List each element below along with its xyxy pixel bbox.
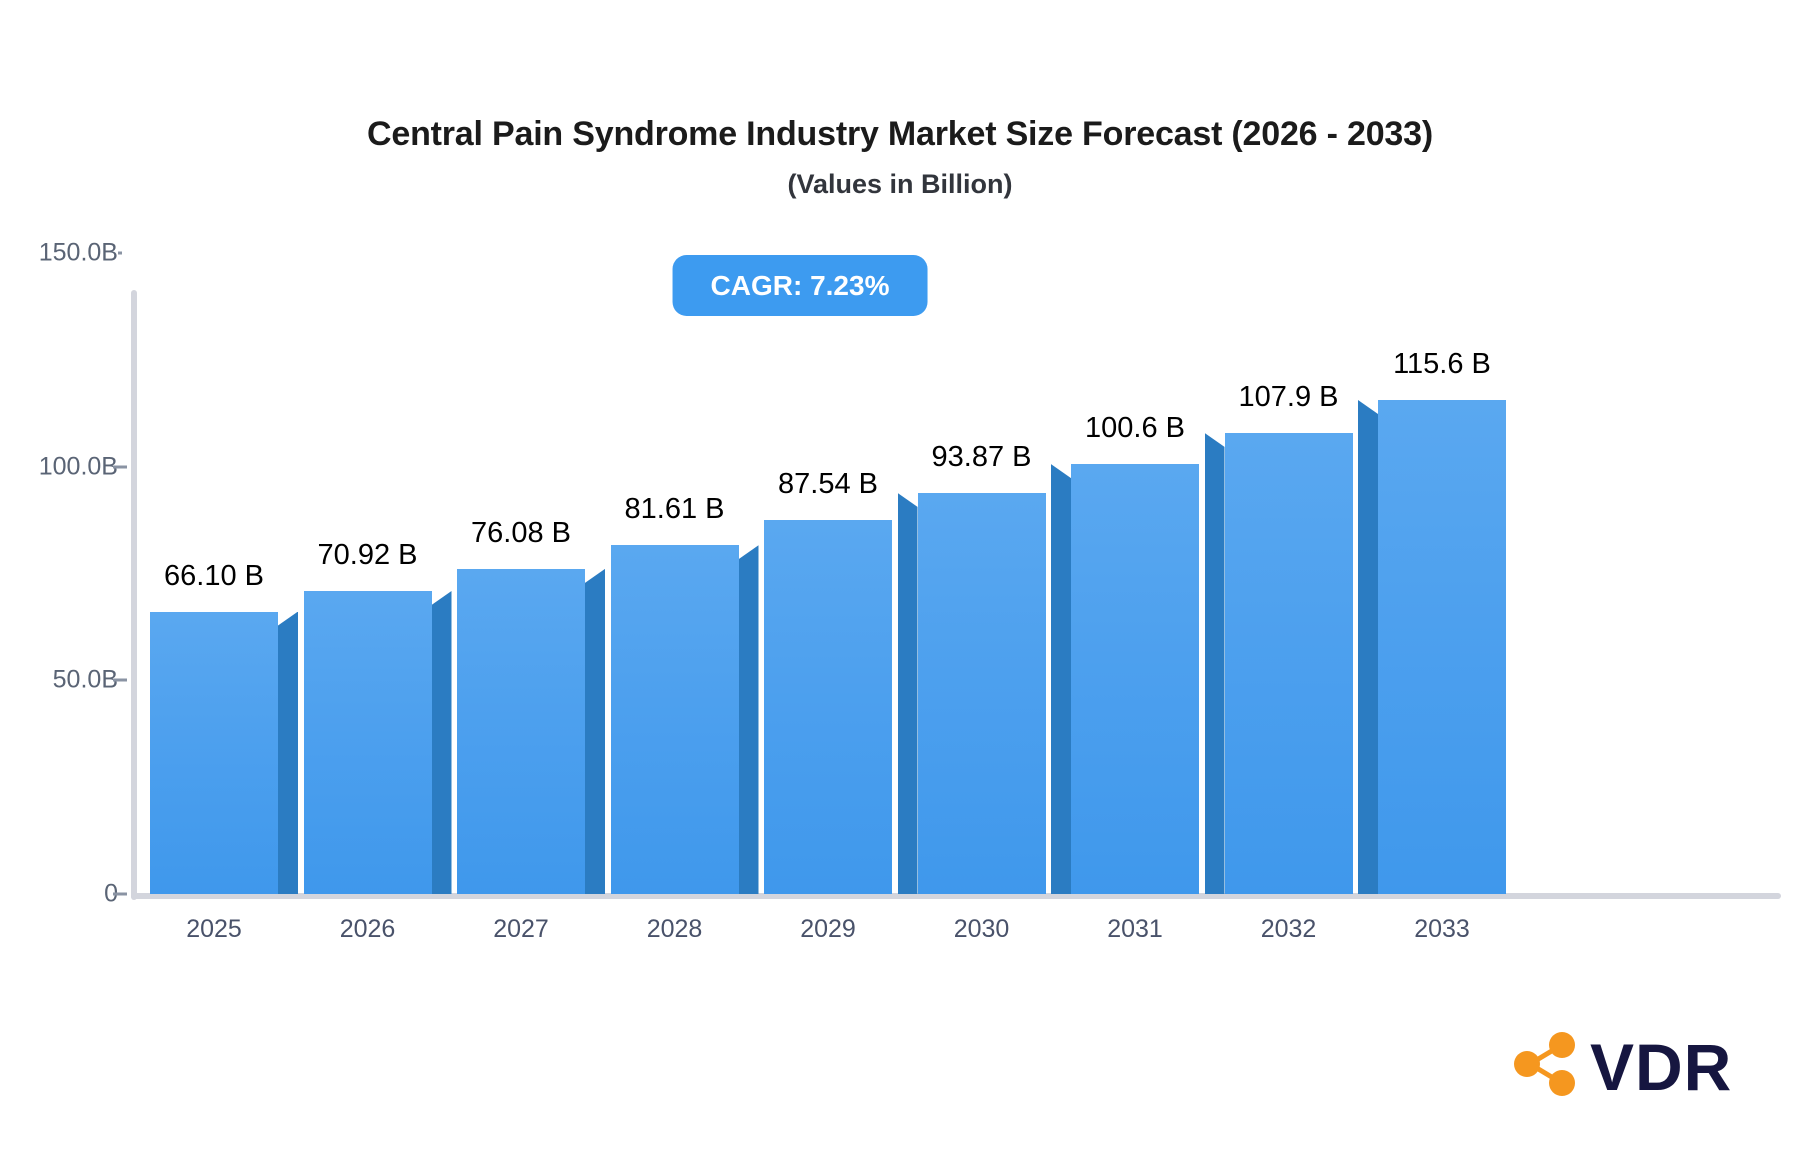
- bar-value-label: 107.9 B: [1169, 381, 1409, 414]
- bar-face: [1225, 433, 1353, 894]
- bar-2028[interactable]: [611, 545, 739, 894]
- y-tick-label: 100.0B: [8, 452, 118, 481]
- bar-value-label: 100.6 B: [1015, 412, 1255, 445]
- chart-canvas: Central Pain Syndrome Industry Market Si…: [0, 0, 1800, 1156]
- bar-side-panel: [1358, 400, 1378, 894]
- y-tick-mark: [113, 893, 127, 896]
- share-nodes-icon: [1508, 1032, 1580, 1101]
- bar-face: [611, 545, 739, 894]
- y-tick-mark: [113, 465, 127, 468]
- y-tick-mark: [113, 679, 127, 682]
- bar-side-panel: [1205, 433, 1225, 894]
- bar-face: [304, 591, 432, 894]
- bar-2030[interactable]: [918, 493, 1046, 894]
- bar-face: [457, 569, 585, 894]
- bar-value-label: 115.6 B: [1322, 348, 1562, 381]
- y-tick-mark: [118, 252, 122, 255]
- x-tick-label-2033: 2033: [1342, 915, 1542, 944]
- bar-face: [918, 493, 1046, 894]
- bar-value-label: 93.87 B: [862, 441, 1102, 474]
- y-tick-label: 0: [8, 880, 118, 909]
- bar-2033[interactable]: [1378, 400, 1506, 894]
- bar-2025[interactable]: [150, 612, 278, 894]
- bar-side-panel: [585, 569, 605, 894]
- bar-2029[interactable]: [764, 520, 892, 894]
- bar-2027[interactable]: [457, 569, 585, 894]
- bar-face: [1071, 464, 1199, 894]
- bar-face: [150, 612, 278, 894]
- bar-side-panel: [898, 493, 918, 894]
- bar-side-panel: [1051, 464, 1071, 894]
- logo-text: VDR: [1590, 1034, 1732, 1100]
- y-tick-label: 150.0B: [8, 239, 118, 268]
- plot-area: 150.0B100.0B50.0B0 66.10 B70.92 B76.08 B…: [0, 0, 1800, 1156]
- bar-2026[interactable]: [304, 591, 432, 894]
- bar-2031[interactable]: [1071, 464, 1199, 894]
- y-tick-label: 50.0B: [8, 666, 118, 695]
- bar-face: [764, 520, 892, 894]
- bar-side-panel: [278, 612, 298, 894]
- vdr-logo: VDR: [1508, 1032, 1732, 1101]
- bar-face: [1378, 400, 1506, 894]
- y-axis-line: [131, 290, 137, 900]
- bar-2032[interactable]: [1225, 433, 1353, 894]
- bar-side-panel: [739, 545, 759, 894]
- bar-side-panel: [432, 591, 452, 894]
